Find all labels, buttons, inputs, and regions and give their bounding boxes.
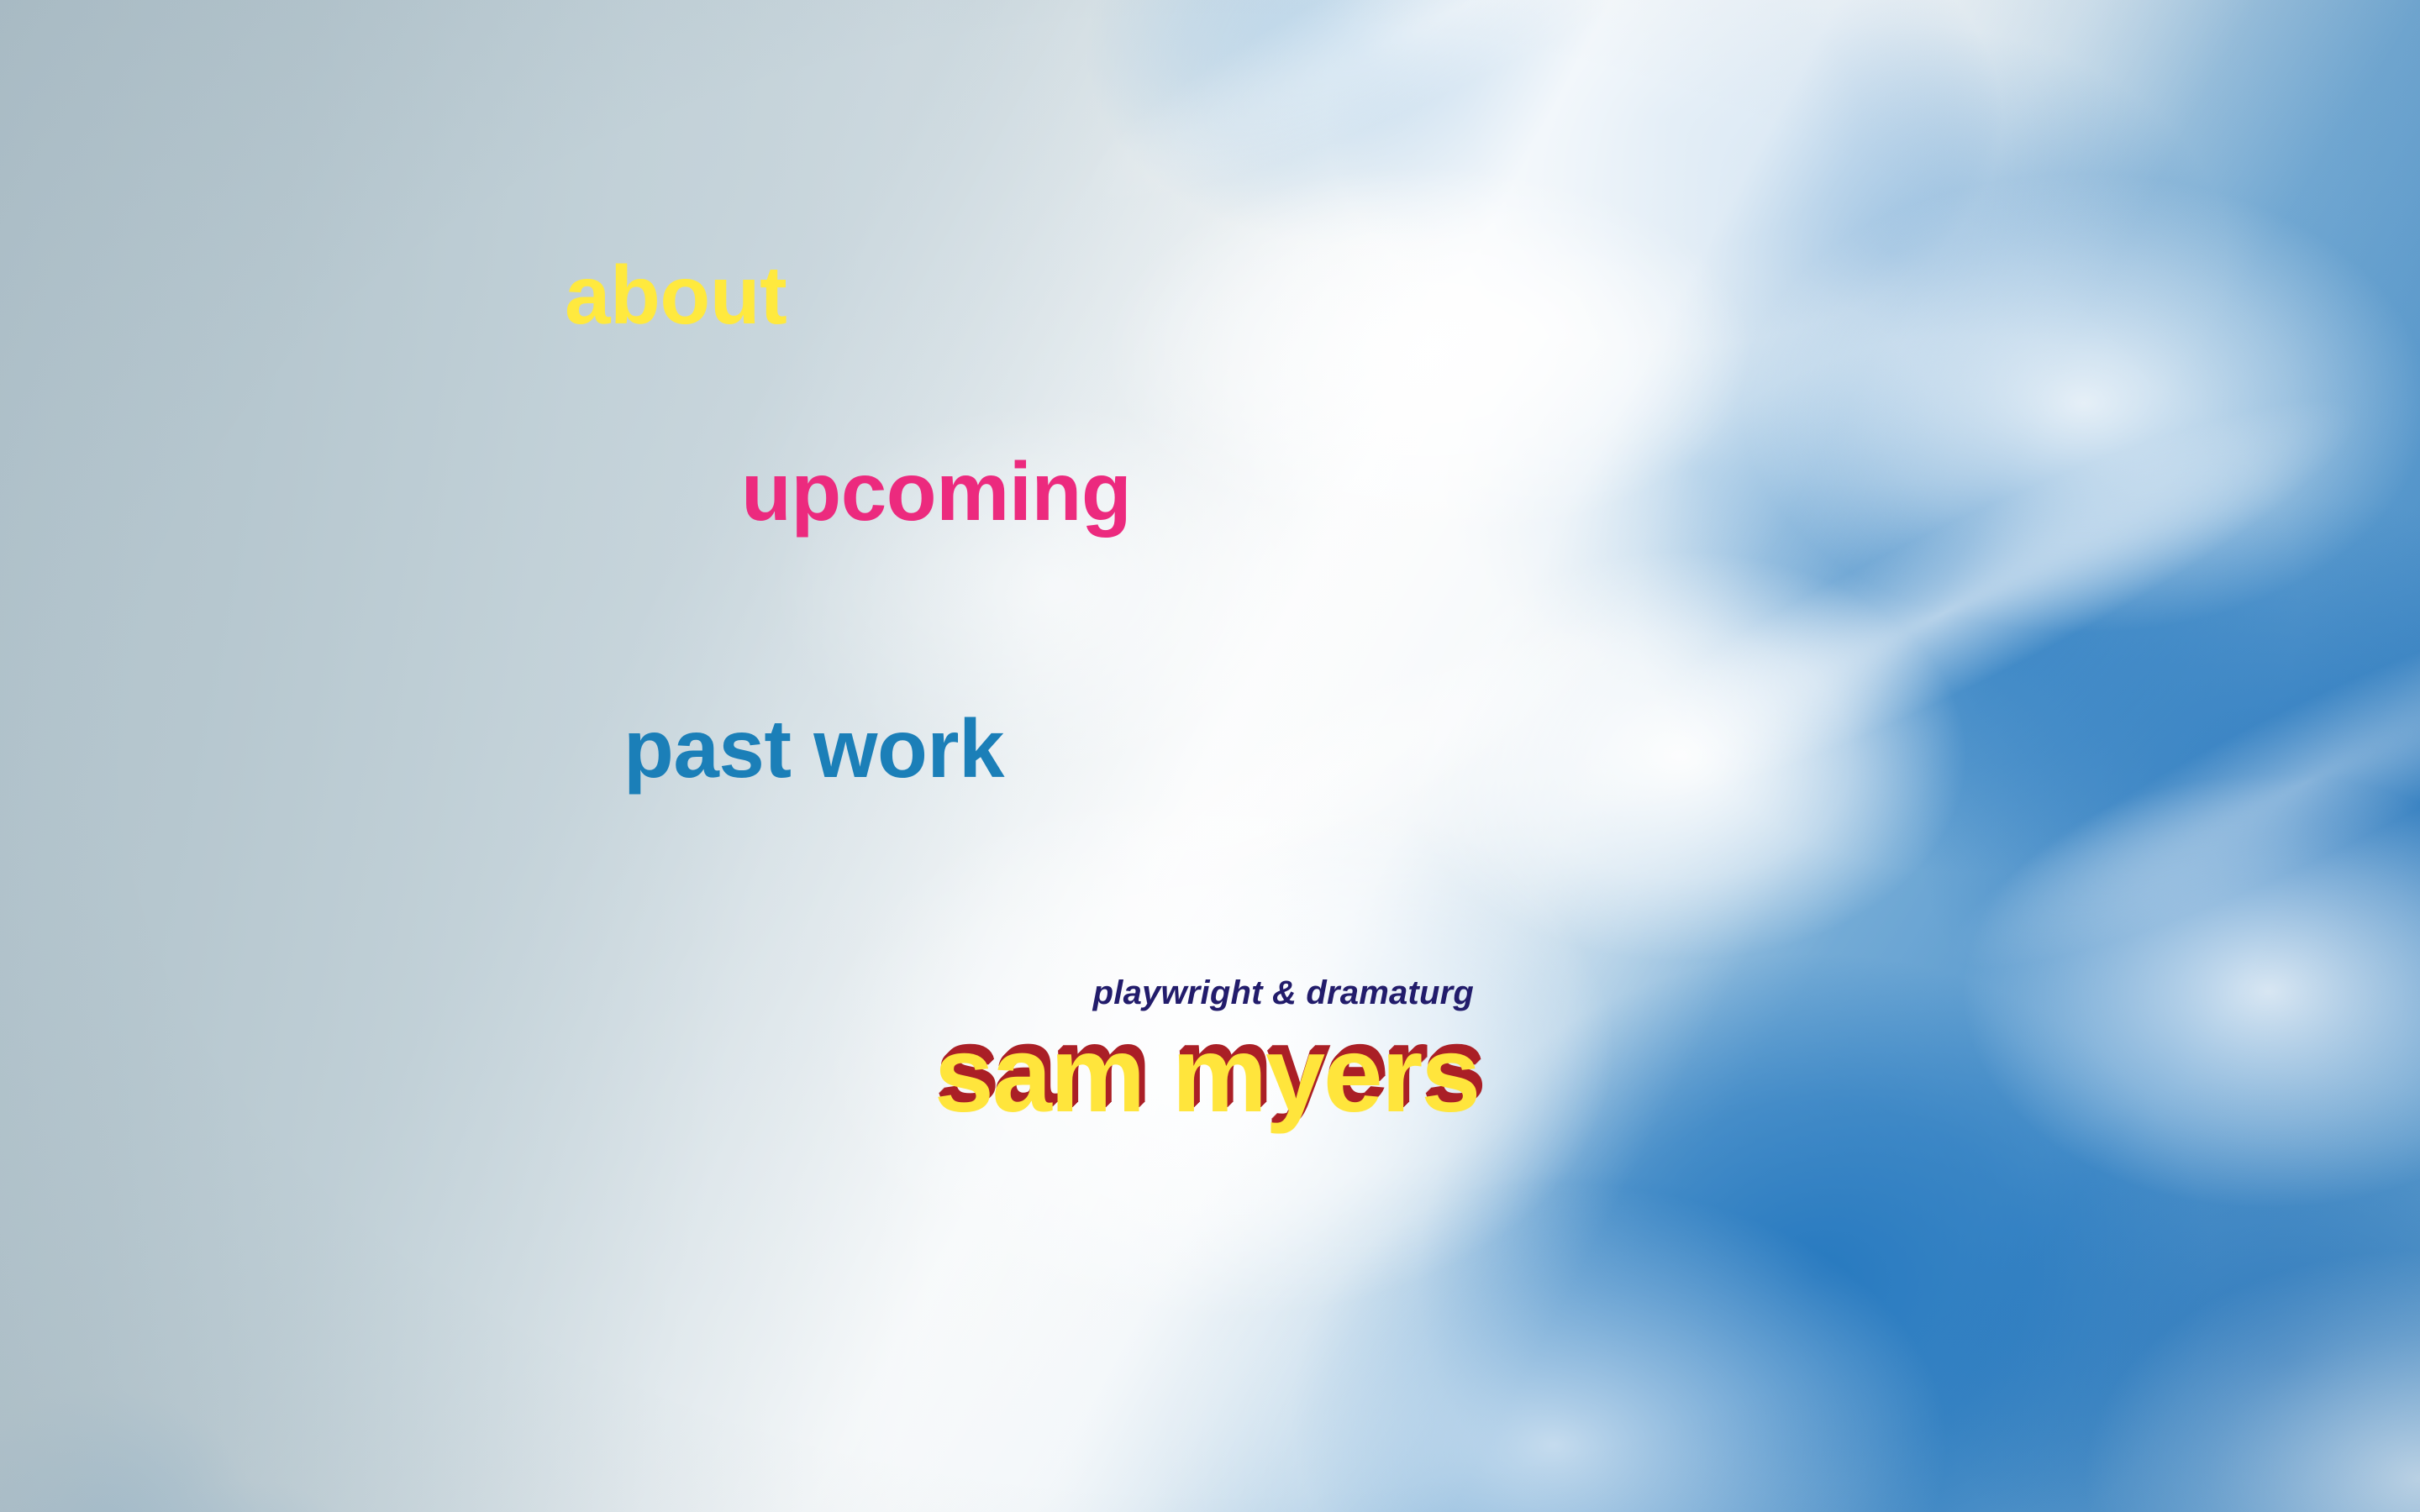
homepage-root: about upcoming past work playwright & dr… bbox=[0, 0, 2420, 1512]
main-navigation: about upcoming past work bbox=[0, 0, 2420, 1512]
site-title-block: playwright & dramaturg sam myers bbox=[790, 976, 1479, 1129]
site-name-sam-myers[interactable]: sam myers bbox=[790, 1021, 1479, 1129]
nav-link-about[interactable]: about bbox=[565, 254, 786, 336]
site-tagline: playwright & dramaturg bbox=[790, 976, 1479, 1010]
nav-link-past-work[interactable]: past work bbox=[623, 707, 1004, 790]
nav-link-upcoming[interactable]: upcoming bbox=[741, 450, 1131, 533]
